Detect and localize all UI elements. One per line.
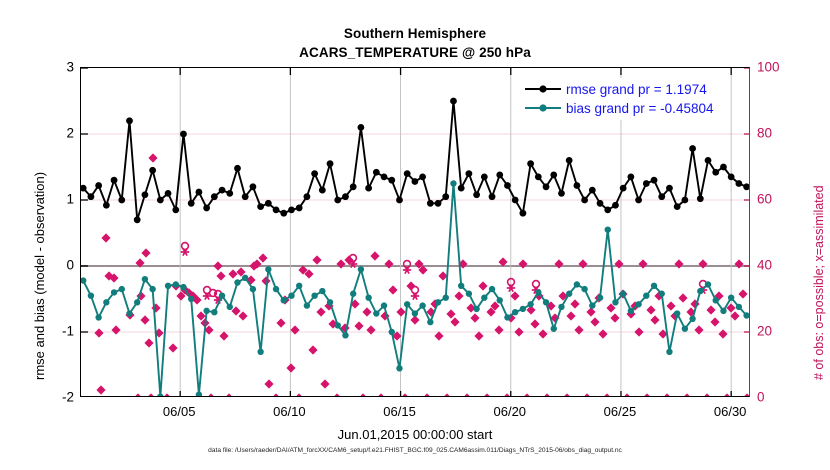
- legend-item-bias[interactable]: bias grand pr = -0.45804: [523, 99, 713, 117]
- y-axis-left-tick: -2: [62, 390, 74, 405]
- chart-title-line-2: ACARS_TEMPERATURE @ 250 hPa: [0, 43, 830, 62]
- y-axis-left-tick: 0: [66, 258, 74, 273]
- x-axis-tick: 06/30: [714, 404, 747, 419]
- y-axis-right-tick: 100: [757, 60, 780, 75]
- y-axis-right-tick: 0: [757, 390, 765, 405]
- x-axis-label: Jun.01,2015 00:00:00 start: [0, 427, 830, 442]
- y-axis-left-tick: 2: [66, 126, 74, 141]
- y-axis-left-tick: 3: [66, 60, 74, 75]
- y-axis-right-tick: 60: [757, 192, 772, 207]
- y-axis-left-tick: -1: [62, 324, 74, 339]
- legend-label-bias: bias grand pr = -0.45804: [563, 101, 713, 116]
- x-axis-tick: 06/15: [383, 404, 416, 419]
- chart-root: Southern Hemisphere ACARS_TEMPERATURE @ …: [0, 0, 830, 470]
- data-file-caption: data file: /Users/raeder/DAI/ATM_forcXX/…: [0, 447, 830, 454]
- legend-item-rmse[interactable]: rmse grand pr = 1.1974: [523, 80, 713, 98]
- y-axis-left-tick: 1: [66, 192, 74, 207]
- chart-title-line-1: Southern Hemisphere: [0, 24, 830, 43]
- y-axis-left-label: rmse and bias (model - observation): [32, 172, 47, 380]
- y-axis-right-tick: 20: [757, 324, 772, 339]
- chart-title: Southern Hemisphere ACARS_TEMPERATURE @ …: [0, 24, 830, 62]
- legend-marker-rmse: [523, 82, 563, 96]
- y-axis-right-label: # of obs: o=possible; x=assimilated: [812, 185, 826, 380]
- x-axis-tick: 06/25: [604, 404, 637, 419]
- x-axis-tick: 06/05: [163, 404, 196, 419]
- legend-marker-bias: [523, 101, 563, 115]
- y-axis-right-tick: 80: [757, 126, 772, 141]
- x-axis-tick: 06/10: [273, 404, 306, 419]
- legend: rmse grand pr = 1.1974 bias grand pr = -…: [519, 78, 717, 120]
- legend-label-rmse: rmse grand pr = 1.1974: [563, 82, 707, 97]
- y-axis-right-tick: 40: [757, 258, 772, 273]
- x-axis-tick: 06/20: [493, 404, 526, 419]
